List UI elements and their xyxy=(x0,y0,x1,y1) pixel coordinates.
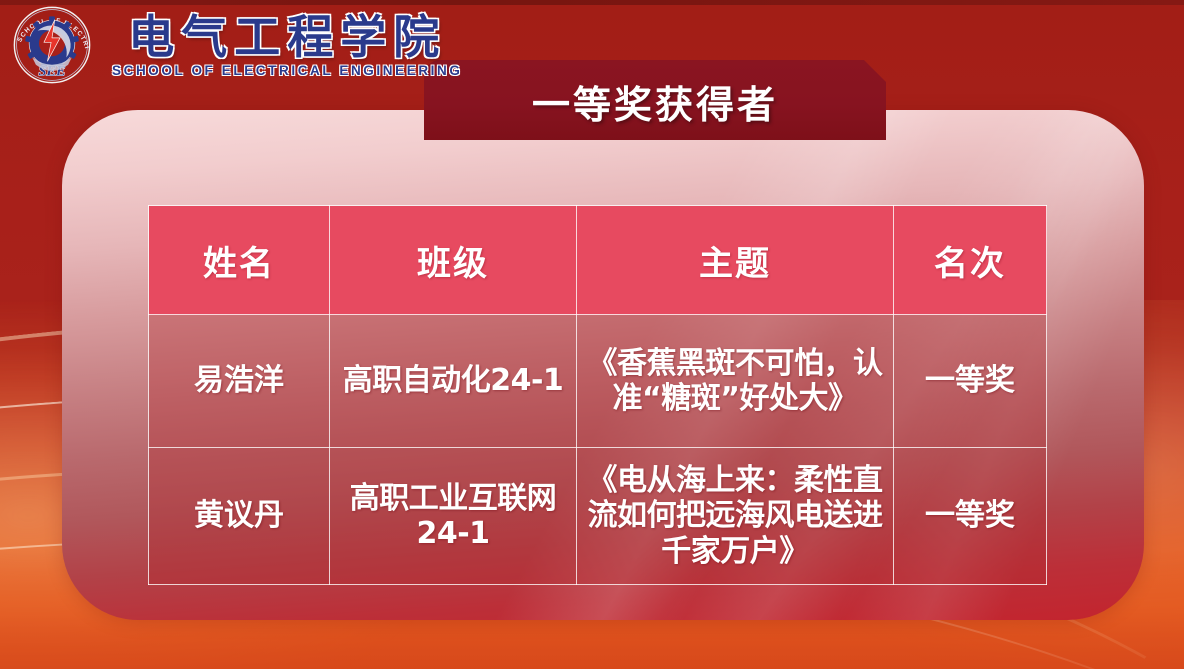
brand-lockup: SCHOOL OF ELECTRICAL ENGINEERING xyxy=(6,2,462,88)
cell-topic: 《电从海上来：柔性直流如何把远海风电送进千家万户》 xyxy=(577,448,894,585)
cell-rank: 一等奖 xyxy=(894,315,1047,448)
table-body: 易浩洋 高职自动化24-1 《香蕉黑斑不可怕，认准“糖斑”好处大》 一等奖 黄议… xyxy=(149,315,1047,585)
title-banner: 一等奖获得者 xyxy=(424,60,886,140)
school-name-en: SCHOOL OF ELECTRICAL ENGINEERING xyxy=(112,63,462,78)
school-name-cn: 电气工程学院 xyxy=(128,14,446,60)
column-header-name: 姓名 xyxy=(149,206,330,315)
page-title: 一等奖获得者 xyxy=(532,74,778,129)
column-header-rank: 名次 xyxy=(894,206,1047,315)
cell-class: 高职工业互联网24-1 xyxy=(330,448,577,585)
winners-table: 姓名 班级 主题 名次 易浩洋 高职自动化24-1 《香蕉黑斑不可怕，认准“糖斑… xyxy=(148,205,1047,585)
slide-canvas: SCHOOL OF ELECTRICAL ENGINEERING xyxy=(0,0,1184,669)
cell-name: 易浩洋 xyxy=(149,315,330,448)
cell-class: 高职自动化24-1 xyxy=(330,315,577,448)
table-row: 易浩洋 高职自动化24-1 《香蕉黑斑不可怕，认准“糖斑”好处大》 一等奖 xyxy=(149,315,1047,448)
cell-topic: 《香蕉黑斑不可怕，认准“糖斑”好处大》 xyxy=(577,315,894,448)
table-row: 黄议丹 高职工业互联网24-1 《电从海上来：柔性直流如何把远海风电送进千家万户… xyxy=(149,448,1047,585)
cell-rank: 一等奖 xyxy=(894,448,1047,585)
school-emblem-gear-lightning-icon: SCHOOL OF ELECTRICAL ENGINEERING xyxy=(6,2,98,88)
column-header-class: 班级 xyxy=(330,206,577,315)
cell-name: 黄议丹 xyxy=(149,448,330,585)
table-head: 姓名 班级 主题 名次 xyxy=(149,206,1047,315)
brand-text-block: 电气工程学院 SCHOOL OF ELECTRICAL ENGINEERING xyxy=(112,12,462,78)
column-header-topic: 主题 xyxy=(577,206,894,315)
table-header-row: 姓名 班级 主题 名次 xyxy=(149,206,1047,315)
